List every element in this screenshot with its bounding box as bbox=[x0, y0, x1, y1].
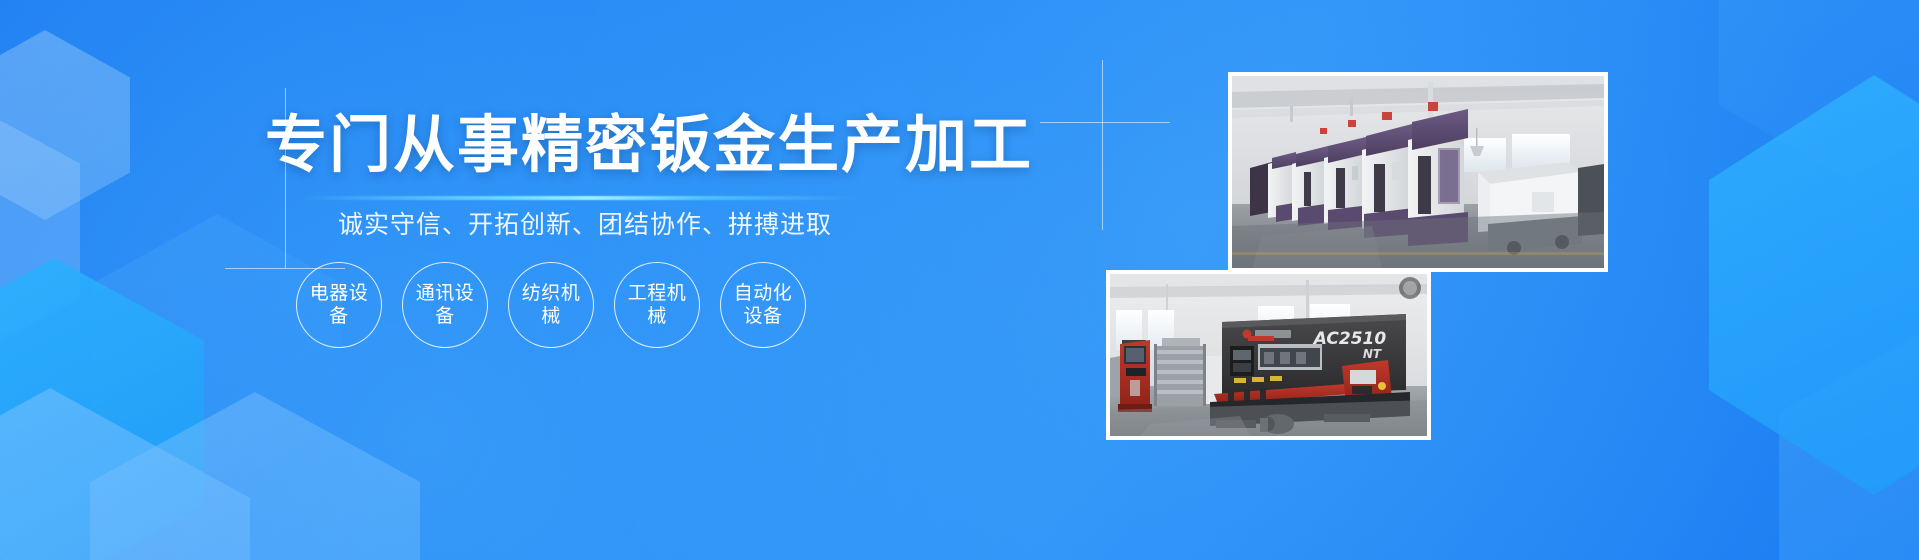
category-tag-electrical-equipment[interactable]: 电器设 备 bbox=[296, 262, 382, 348]
photo-amada-punch-press: AC2510 NT bbox=[1106, 270, 1431, 440]
category-tag-communication-equipment[interactable]: 通讯设 备 bbox=[402, 262, 488, 348]
category-tag-construction-machinery[interactable]: 工程机 械 bbox=[614, 262, 700, 348]
headline-underline-glow bbox=[300, 196, 860, 200]
category-tag-list: 电器设 备 通讯设 备 纺织机 械 工程机 械 bbox=[296, 262, 866, 348]
crosshair-vertical-line bbox=[1102, 60, 1103, 230]
cnc-workshop-illustration bbox=[1232, 76, 1604, 268]
category-tag-label-line2: 械 bbox=[522, 305, 581, 328]
promo-banner: 专门从事精密钣金生产加工 诚实守信、开拓创新、团结协作、拼搏进取 电器设 备 通… bbox=[0, 0, 1919, 560]
category-tag-textile-machinery[interactable]: 纺织机 械 bbox=[508, 262, 594, 348]
banner-subheadline: 诚实守信、开拓创新、团结协作、拼搏进取 bbox=[265, 208, 905, 242]
svg-text:NT: NT bbox=[1363, 347, 1382, 361]
category-tag-label-line2: 备 bbox=[310, 305, 369, 328]
photo-cnc-machining-center-row bbox=[1228, 72, 1608, 272]
category-tag-label-line1: 电器设 bbox=[310, 282, 369, 305]
category-tag-label-line2: 械 bbox=[628, 305, 687, 328]
category-tag-label-line2: 设备 bbox=[734, 305, 793, 328]
category-tag-automation-equipment[interactable]: 自动化 设备 bbox=[720, 262, 806, 348]
category-tag-label-line1: 通讯设 bbox=[416, 282, 475, 305]
category-tag-label-line1: 工程机 bbox=[628, 282, 687, 305]
category-tag-label-line1: 纺织机 bbox=[522, 282, 581, 305]
category-tag-label-line2: 备 bbox=[416, 305, 475, 328]
banner-text-block: 专门从事精密钣金生产加工 诚实守信、开拓创新、团结协作、拼搏进取 电器设 备 通… bbox=[0, 0, 1100, 560]
banner-headline: 专门从事精密钣金生产加工 bbox=[265, 114, 905, 176]
hexagon-decoration-right-1 bbox=[1709, 75, 1919, 495]
category-tag-label-line1: 自动化 bbox=[734, 282, 793, 305]
svg-text:AC2510: AC2510 bbox=[1312, 329, 1387, 349]
punch-press-illustration: AC2510 NT bbox=[1110, 274, 1427, 436]
